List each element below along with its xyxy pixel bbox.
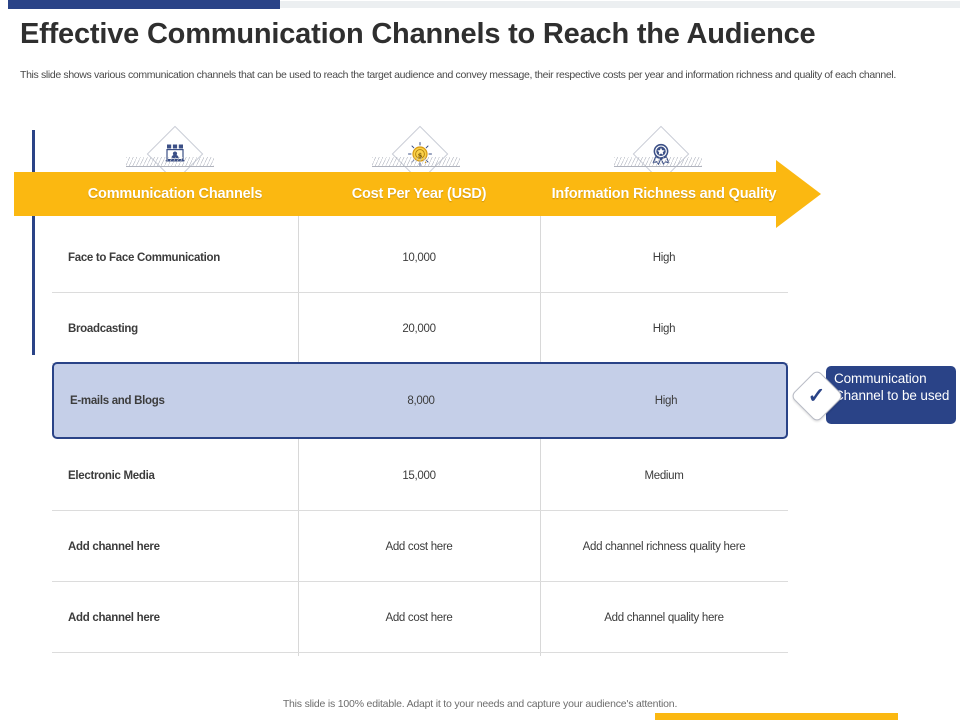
table-row[interactable]: Face to Face Communication 10,000 High — [52, 222, 788, 293]
cell-quality: High — [542, 364, 790, 437]
cell-channel: E-mails and Blogs — [70, 364, 300, 437]
table-row-highlighted[interactable]: E-mails and Blogs 8,000 High — [52, 362, 788, 439]
cell-quality: High — [540, 222, 788, 293]
table-row[interactable]: Electronic Media 15,000 Medium — [52, 440, 788, 511]
cell-channel: Add channel here — [68, 511, 298, 582]
cell-channel: Electronic Media — [68, 440, 298, 511]
award-badge-icon — [638, 131, 684, 177]
icon-hatch-band — [372, 157, 460, 167]
table-row[interactable]: Broadcasting 20,000 High — [52, 293, 788, 364]
column-header-cost: Cost Per Year (USD) — [298, 172, 540, 216]
icon-hatch-band — [126, 157, 214, 167]
footer-accent-bar-tip — [892, 713, 898, 720]
cell-quality: High — [540, 293, 788, 364]
icon-glyph — [638, 131, 684, 177]
footer-note: This slide is 100% editable. Adapt it to… — [0, 698, 960, 710]
top-accent-bar-grey — [280, 1, 960, 8]
check-glyph: ✓ — [808, 385, 826, 406]
cell-quality: Medium — [540, 440, 788, 511]
presentation-board-icon — [152, 131, 198, 177]
cell-channel: Add channel here — [68, 582, 298, 653]
cell-cost: 15,000 — [298, 440, 540, 511]
cell-quality: Add channel quality here — [540, 582, 788, 653]
page-title: Effective Communication Channels to Reac… — [20, 18, 945, 51]
callout-communication-channel[interactable]: Communication Channel to be used ✓ — [798, 366, 956, 428]
icon-glyph: $ — [397, 131, 443, 177]
cell-cost: 10,000 — [298, 222, 540, 293]
coin-money-icon: $ — [397, 131, 443, 177]
column-header-channels: Communication Channels — [52, 172, 298, 216]
cell-channel: Face to Face Communication — [68, 222, 298, 293]
cell-channel: Broadcasting — [68, 293, 298, 364]
column-header-quality: Information Richness and Quality — [540, 172, 788, 216]
cell-cost: 20,000 — [298, 293, 540, 364]
page-subtitle: This slide shows various communication c… — [20, 68, 935, 83]
cell-cost: 8,000 — [300, 364, 542, 437]
footer-accent-bar — [655, 713, 898, 720]
icon-hatch-band — [614, 157, 702, 167]
cell-cost: Add cost here — [298, 511, 540, 582]
top-accent-bar-blue — [8, 0, 280, 9]
cell-cost: Add cost here — [298, 582, 540, 653]
slide-canvas: Effective Communication Channels to Reac… — [0, 0, 960, 720]
left-vertical-rule — [32, 130, 35, 355]
cell-quality: Add channel richness quality here — [540, 511, 788, 582]
icon-glyph — [152, 131, 198, 177]
table-row[interactable]: Add channel here Add cost here Add chann… — [52, 582, 788, 653]
callout-label: Communication Channel to be used — [826, 366, 956, 424]
table-row[interactable]: Add channel here Add cost here Add chann… — [52, 511, 788, 582]
